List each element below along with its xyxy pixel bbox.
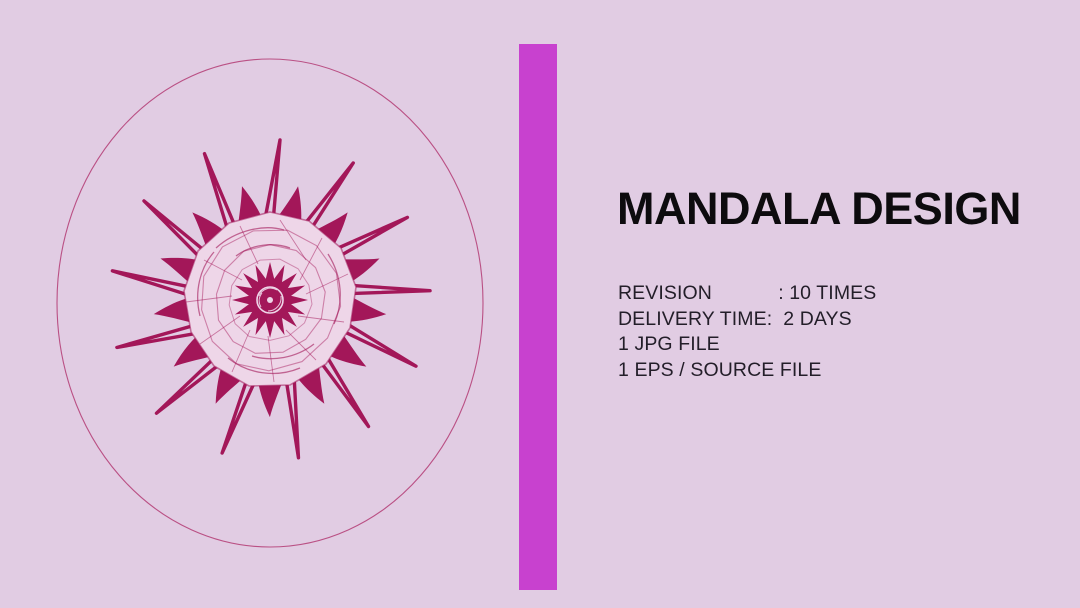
accent-bar xyxy=(519,44,557,590)
mandala-center-rosette xyxy=(232,262,308,338)
spec-list: REVISION : 10 TIMES DELIVERY TIME: 2 DAY… xyxy=(618,281,876,383)
mandala-illustration xyxy=(0,0,500,608)
page-title: MANDALA DESIGN xyxy=(617,183,1021,235)
spec-line-delivery-time: DELIVERY TIME: 2 DAYS xyxy=(618,307,876,333)
text-panel: MANDALA DESIGN REVISION : 10 TIMES DELIV… xyxy=(617,0,1037,608)
spec-line-jpg-file: 1 JPG FILE xyxy=(618,332,876,358)
artwork-panel xyxy=(0,0,500,608)
spec-line-revision: REVISION : 10 TIMES xyxy=(618,281,876,307)
slide-canvas: MANDALA DESIGN REVISION : 10 TIMES DELIV… xyxy=(0,0,1080,608)
spec-line-eps-source-file: 1 EPS / SOURCE FILE xyxy=(618,358,876,384)
